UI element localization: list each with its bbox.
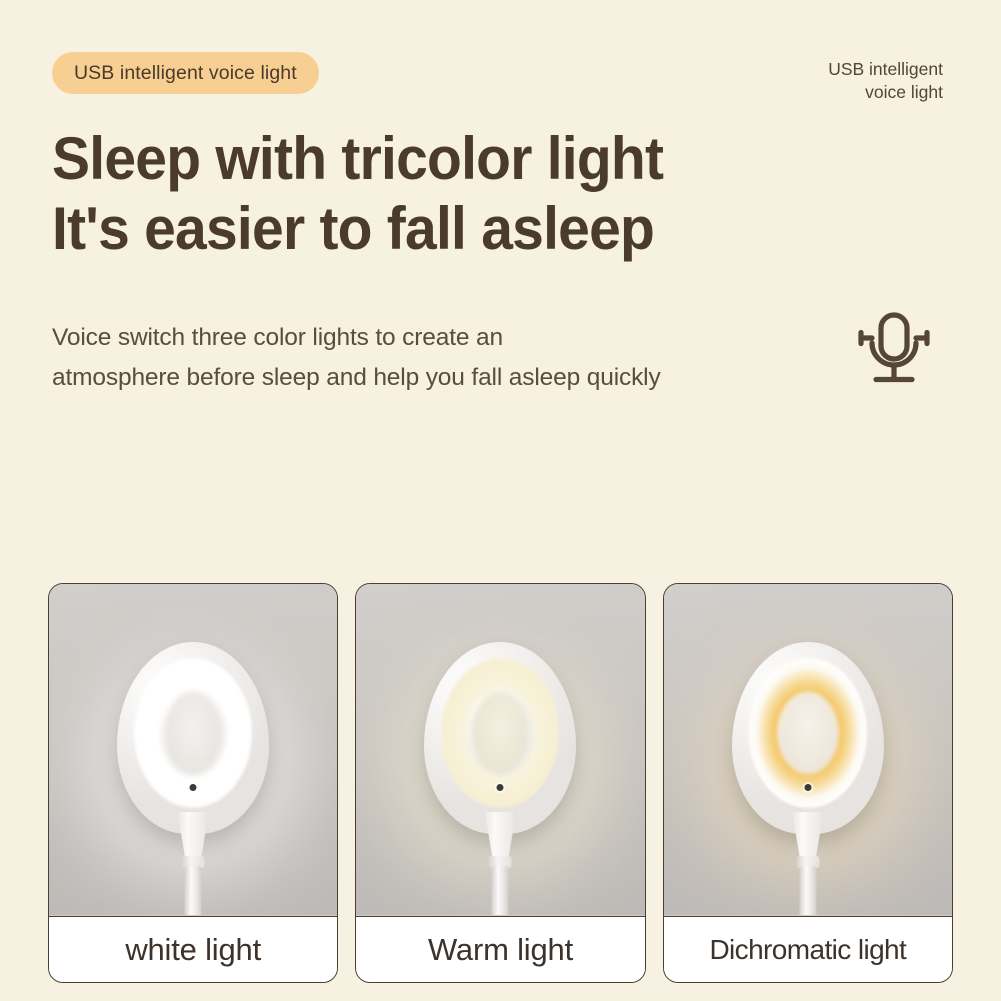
headline-line-2: It's easier to fall asleep (52, 194, 869, 264)
ring-lamp-white (117, 642, 269, 834)
headline: Sleep with tricolor light It's easier to… (52, 124, 869, 264)
sensor-dot (497, 784, 504, 791)
lamp-stem (492, 866, 509, 915)
ring-lamp-dichromatic (732, 642, 884, 834)
light-mode-card[interactable]: Dichromatic light (663, 583, 953, 983)
lamp-ring-hole (780, 692, 836, 774)
product-badge: USB intelligent voice light (52, 52, 319, 94)
product-photo (356, 584, 644, 915)
sensor-dot (190, 784, 197, 791)
light-mode-card[interactable]: white light (48, 583, 338, 983)
light-mode-card[interactable]: Warm light (355, 583, 645, 983)
sensor-dot (804, 784, 811, 791)
subcopy: Voice switch three color lights to creat… (52, 318, 852, 397)
lamp-stem (185, 866, 202, 915)
microphone-icon (852, 307, 936, 391)
product-badge-label: USB intelligent voice light (74, 62, 297, 85)
light-mode-caption: white light (49, 916, 337, 982)
product-photo (664, 584, 952, 915)
corner-product-name: USB intelligent voice light (723, 58, 943, 105)
subcopy-line-1: Voice switch three color lights to creat… (52, 318, 852, 358)
subcopy-line-2: atmosphere before sleep and help you fal… (52, 358, 852, 398)
ring-lamp-warm (424, 642, 576, 834)
light-mode-card-list: white light Warm light (48, 583, 953, 983)
light-mode-caption: Warm light (356, 916, 644, 982)
product-photo (49, 584, 337, 915)
light-mode-caption: Dichromatic light (664, 916, 952, 982)
lamp-ring-hole (165, 692, 221, 774)
lamp-stem (799, 866, 816, 915)
headline-line-1: Sleep with tricolor light (52, 124, 869, 194)
lamp-ring-hole (472, 692, 528, 774)
product-feature-banner: USB intelligent voice light USB intellig… (0, 0, 1001, 1001)
